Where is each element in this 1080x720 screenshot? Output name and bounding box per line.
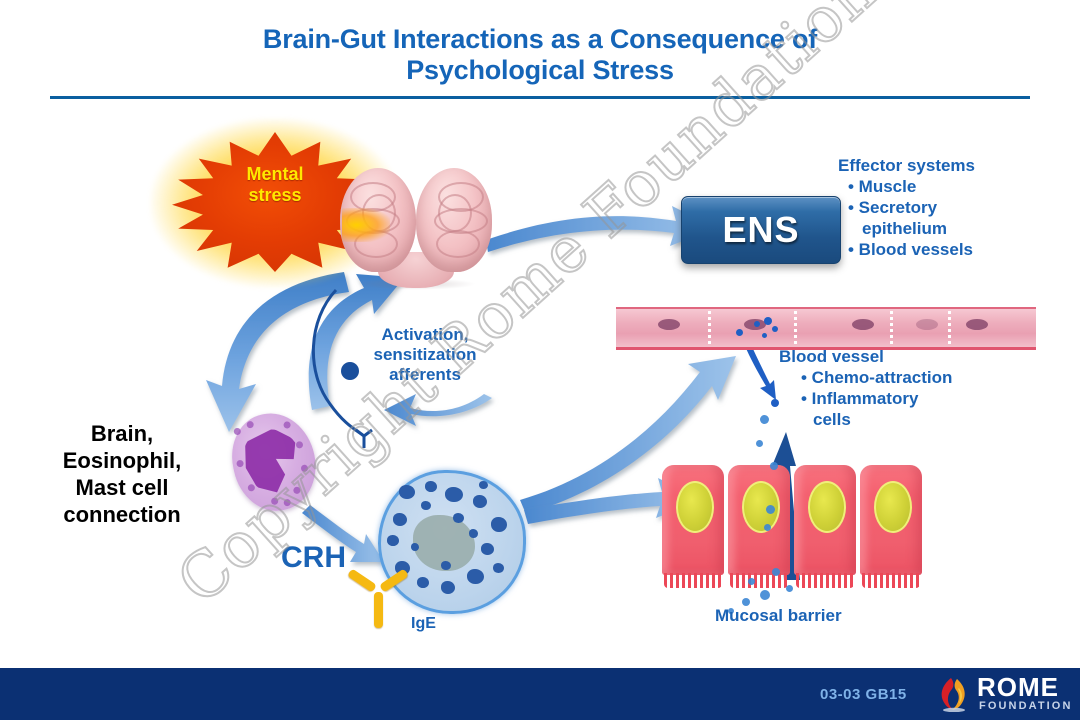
blood-vessel-illustration xyxy=(616,307,1036,350)
blood-vessel-item-chemo: • Chemo-attraction xyxy=(779,367,1019,388)
logo-wordmark: ROME xyxy=(977,674,1059,700)
epithelial-cell xyxy=(662,465,724,575)
brain-activation-spark xyxy=(342,208,390,242)
ige-label: IgE xyxy=(411,615,436,633)
ens-box[interactable]: ENS xyxy=(681,196,841,264)
effector-item-muscle: • Muscle xyxy=(838,176,1038,197)
brain-eosinophil-mastcell-label: Brain, Eosinophil, Mast cell connection xyxy=(22,420,222,528)
arrow-brain-to-eosinophil xyxy=(206,272,349,432)
effector-item-epithelium: epithelium xyxy=(838,218,1038,239)
left-label-line-1: Brain, xyxy=(22,420,222,447)
footer-bar: 03-03 GB15 ROME FOUNDATION xyxy=(0,668,1080,720)
ige-antibody-icon xyxy=(345,572,415,634)
mucosal-barrier-illustration xyxy=(662,465,932,590)
rome-foundation-logo: ROME FOUNDATION xyxy=(935,674,1075,718)
blood-vessel-label-block: Blood vessel • Chemo-attraction • Inflam… xyxy=(779,346,1019,430)
blood-vessel-item-cells: cells xyxy=(779,409,1019,430)
effector-item-blood-vessels: • Blood vessels xyxy=(838,239,1038,260)
effector-systems-heading: Effector systems xyxy=(838,155,1038,176)
page-title-line-2: Psychological Stress xyxy=(90,55,990,86)
ens-label: ENS xyxy=(722,209,799,251)
brain-hemisphere-right xyxy=(416,168,492,272)
blood-vessel-heading: Blood vessel xyxy=(779,346,1019,367)
left-label-line-4: connection xyxy=(22,501,222,528)
epithelial-cell xyxy=(728,465,790,575)
mucosal-barrier-label: Mucosal barrier xyxy=(715,606,842,626)
footer-slide-code: 03-03 GB15 xyxy=(820,686,907,703)
extravasated-cell-dot xyxy=(771,399,779,407)
flame-icon xyxy=(935,676,973,712)
brain-illustration xyxy=(336,160,496,290)
epithelial-cell xyxy=(794,465,856,575)
title-divider xyxy=(50,96,1030,99)
effector-item-secretory: • Secretory xyxy=(838,197,1038,218)
epithelial-cell xyxy=(860,465,922,575)
left-label-line-3: Mast cell xyxy=(22,474,222,501)
slide-canvas: Brain-Gut Interactions as a Consequence … xyxy=(0,0,1080,720)
logo-subtitle: FOUNDATION xyxy=(979,700,1073,712)
blood-vessel-item-inflammatory: • Inflammatory xyxy=(779,388,1019,409)
effector-systems-block: Effector systems • Muscle • Secretory ep… xyxy=(838,155,1038,260)
left-label-line-2: Eosinophil, xyxy=(22,447,222,474)
